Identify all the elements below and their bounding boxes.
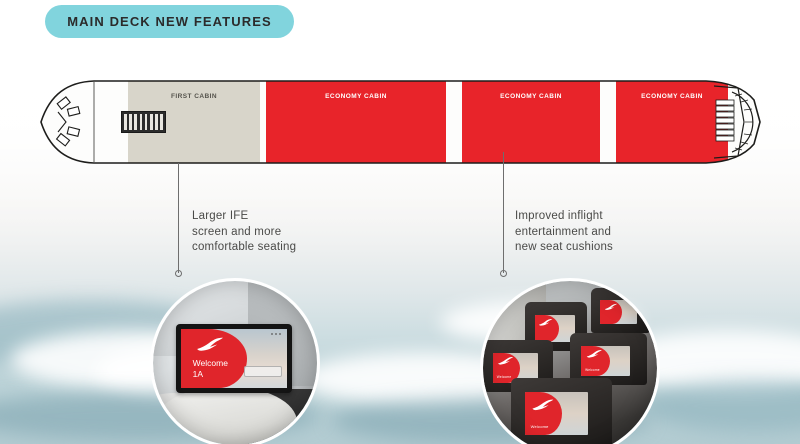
kangaroo-logo-icon — [531, 398, 555, 413]
seat-ife-screen: Welcome — [525, 392, 588, 435]
seat-row-back — [591, 288, 650, 333]
ife-greeting: Welcome — [193, 358, 228, 368]
leader-line-ife — [178, 163, 179, 273]
cabin-label-layer: FIRST CABIN ECONOMY CABIN ECONOMY CABIN … — [38, 78, 768, 166]
leader-dot-inflight — [500, 270, 507, 277]
cabin-label: ECONOMY CABIN — [325, 93, 387, 163]
section-banner: MAIN DECK NEW FEATURES — [45, 5, 294, 38]
cabin-economy-3: ECONOMY CABIN — [616, 81, 728, 163]
seat-ife-screen — [600, 300, 637, 324]
slide-canvas: MAIN DECK NEW FEATURES — [0, 0, 800, 444]
seat-ife-welcome: Welcome — [531, 424, 549, 429]
seat-ife-screen: Welcome — [581, 346, 630, 376]
seat-ife-welcome: Welcome — [497, 375, 512, 379]
kangaroo-logo-icon — [604, 303, 618, 311]
callout-inflight: Improved inflight entertainment and new … — [515, 209, 613, 256]
callout-ife: Larger IFE screen and more comfortable s… — [192, 209, 296, 256]
seat-ife-screen — [535, 315, 575, 342]
photo-economy-seats: Welcome Welcome Welcome — [480, 278, 660, 444]
seat-row-front: Welcome — [511, 378, 612, 444]
leader-dot-ife — [175, 270, 182, 277]
ife-status-dots — [271, 333, 281, 335]
galley-block-icon — [121, 111, 166, 133]
cabin-label: ECONOMY CABIN — [500, 93, 562, 163]
leader-line-inflight — [503, 152, 504, 273]
aircraft-deck-diagram: FIRST CABIN ECONOMY CABIN ECONOMY CABIN … — [38, 78, 768, 166]
cabin-label: FIRST CABIN — [171, 93, 217, 163]
kangaroo-logo-icon — [497, 356, 514, 366]
kangaroo-logo-icon — [192, 336, 228, 354]
seat-ife-welcome: Welcome — [585, 368, 600, 372]
ife-screen-button[interactable] — [244, 366, 282, 377]
section-title: MAIN DECK NEW FEATURES — [67, 14, 272, 29]
ife-screen: Welcome1A — [176, 324, 292, 393]
ife-welcome-text: Welcome1A — [193, 358, 228, 380]
cabin-economy-1: ECONOMY CABIN — [266, 81, 446, 163]
kangaroo-logo-icon — [538, 318, 553, 327]
kangaroo-logo-icon — [585, 349, 604, 359]
photo-first-class-ife: Welcome1A — [150, 278, 320, 444]
cabin-label: ECONOMY CABIN — [641, 93, 703, 163]
ife-seat-number: 1A — [193, 369, 203, 379]
cabin-economy-2: ECONOMY CABIN — [462, 81, 600, 163]
